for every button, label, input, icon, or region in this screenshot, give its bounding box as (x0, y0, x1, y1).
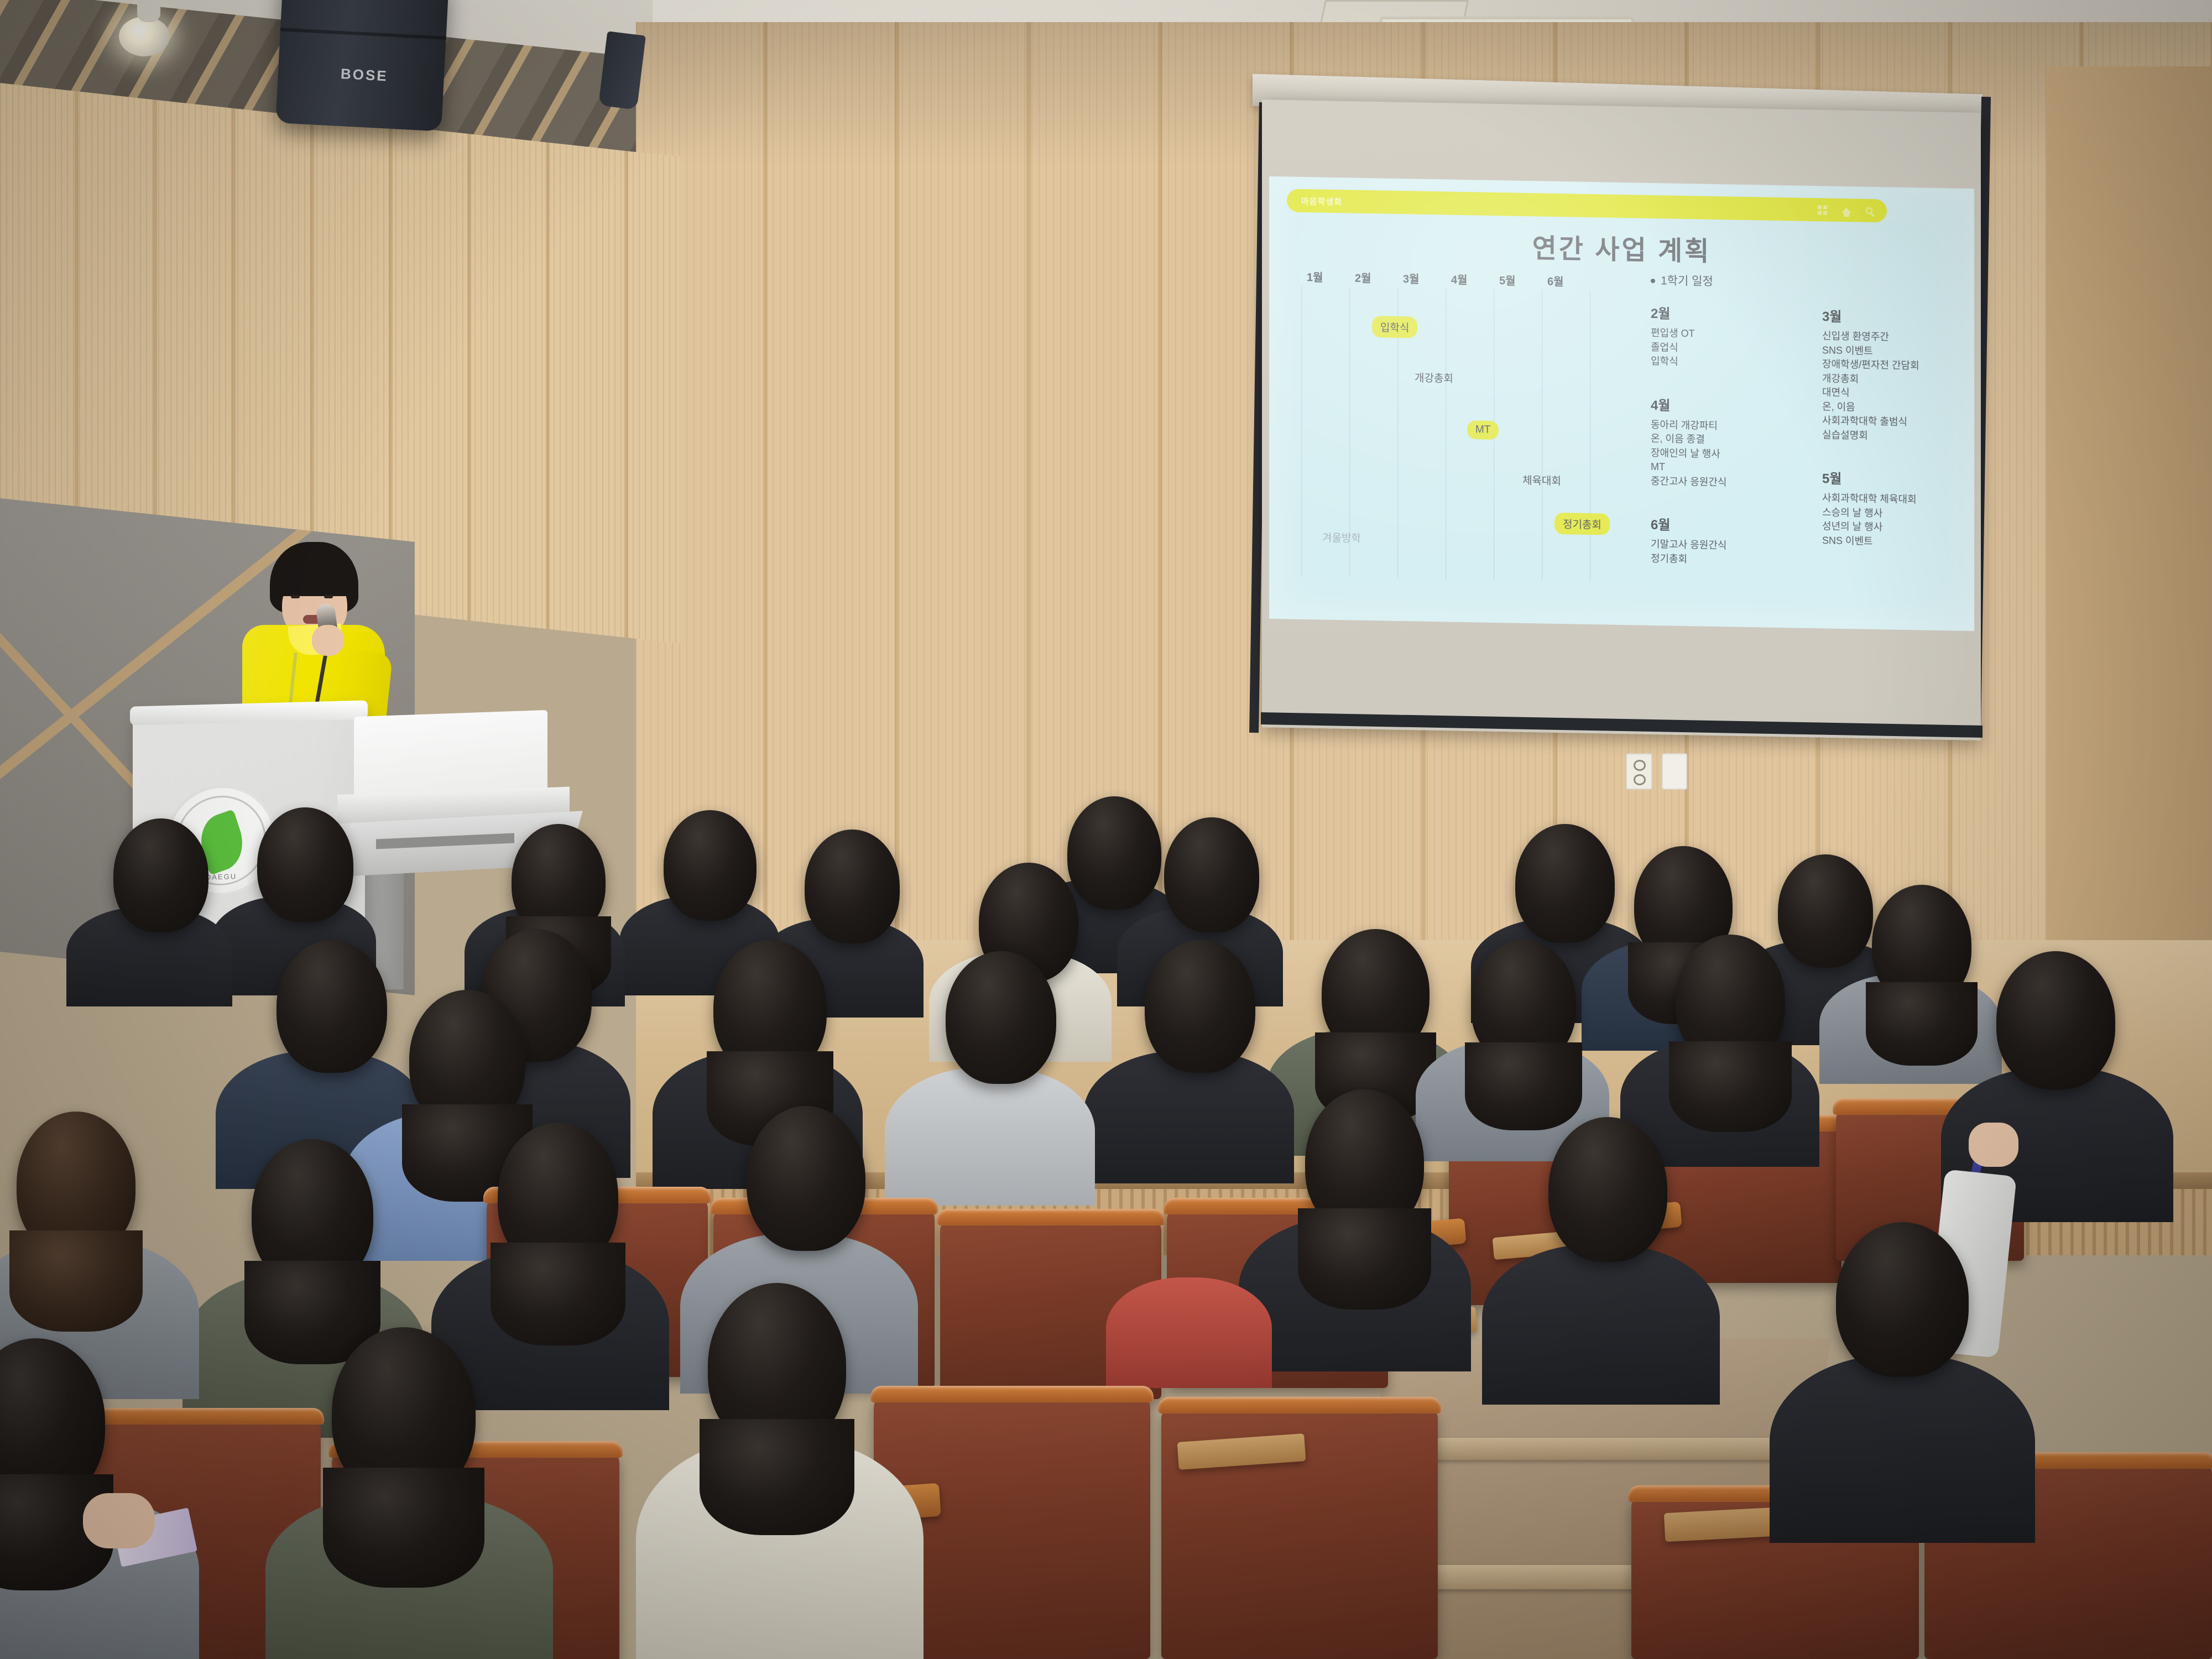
audience-head (276, 940, 387, 1073)
slide-header-label: 마음학생회 (1301, 195, 1342, 207)
schedule-heading-text: 1학기 일정 (1661, 274, 1713, 288)
schedule-month-heading: 3월 (1822, 305, 1955, 327)
audience-head (1067, 796, 1161, 910)
audience-head (1676, 935, 1785, 1065)
audience-shoulders (1482, 1244, 1720, 1405)
slide-title: 연간 사업 계획 (1269, 222, 1974, 273)
schedule-item: 편입생 OT (1651, 326, 1783, 343)
home-icon (1841, 207, 1851, 213)
timeline-month-3: 3월 (1403, 270, 1420, 286)
audience-head (1872, 885, 1971, 1004)
audience-head (17, 1112, 135, 1256)
blank-wall-plate (1662, 753, 1687, 790)
schedule-month-heading: 4월 (1651, 394, 1783, 416)
power-outlet (1626, 753, 1652, 790)
schedule-columns: 2월편입생 OT졸업식입학식4월동아리 개강파티온, 이음 종결장애인의 날 행… (1651, 302, 1960, 571)
schedule-month-heading: 5월 (1822, 468, 1955, 489)
timeline-event: 정기총회 (1554, 513, 1610, 535)
timeline-month-2: 2월 (1355, 269, 1371, 286)
bose-logo: BOSE (340, 65, 388, 85)
ceiling-spotlight (137, 0, 160, 22)
audience-shoulders (885, 1067, 1095, 1206)
audience-head (1305, 1089, 1424, 1234)
audience-head (512, 824, 606, 937)
audience-head (708, 1283, 846, 1449)
schedule-item: 사회과학대학 출범식 (1822, 414, 1955, 431)
audience-head (1471, 940, 1576, 1065)
timeline-month-6: 6월 (1547, 273, 1564, 289)
presenter-eye-right (324, 595, 333, 598)
audience-head (1836, 1222, 1969, 1377)
right-wall-panel (2046, 66, 2212, 1006)
audience-head (1515, 824, 1615, 943)
timeline-event: MT (1467, 420, 1499, 440)
timeline-month-1: 1월 (1307, 268, 1323, 285)
audience-head (332, 1327, 476, 1499)
presenter-hand (312, 625, 344, 656)
schedule-item: 실습설명회 (1822, 428, 1955, 445)
audience-head (1548, 1117, 1667, 1262)
student-hand (1969, 1123, 2018, 1167)
schedule-column-left: 2월편입생 OT졸업식입학식4월동아리 개강파티온, 이음 종결장애인의 날 행… (1651, 302, 1783, 568)
slide-header-bar: 마음학생회 (1287, 189, 1887, 222)
presenter-fringe (274, 564, 356, 596)
audience-shoulders (1106, 1277, 1272, 1388)
schedule-item: 정기총회 (1651, 552, 1783, 568)
schedule-item: SNS 이벤트 (1822, 534, 1955, 550)
timeline-event: 입학식 (1372, 316, 1417, 338)
audience-head (409, 990, 525, 1129)
audience-head (498, 1123, 618, 1269)
schedule-item: 대면식 (1822, 386, 1955, 403)
aisle-step (1392, 1438, 1793, 1460)
schedule-item: 신입생 환영주간 (1822, 329, 1955, 346)
student-hand (83, 1493, 155, 1548)
audience-head (747, 1106, 865, 1251)
audience-head (664, 810, 757, 921)
bose-ceiling-speaker: BOSE (275, 0, 449, 132)
timeline-event: 겨울방학 (1322, 530, 1361, 545)
audience-head (1778, 854, 1873, 968)
projected-slide: 마음학생회 연간 사업 계획 1월2월3월4월5월6월 겨울방학입학식개강총회M… (1269, 176, 1974, 631)
audience-head (257, 807, 353, 922)
bullet-dot-icon (1651, 279, 1655, 283)
timeline-month-5: 5월 (1499, 272, 1516, 288)
timeline-month-4: 4월 (1451, 271, 1468, 288)
audience-head (805, 830, 900, 943)
audience-head (252, 1139, 373, 1287)
schedule-item: 장애인의 날 행사 (1651, 446, 1783, 463)
audience-head (1164, 817, 1259, 932)
schedule-month-heading: 2월 (1651, 302, 1783, 324)
audience-head (113, 818, 208, 932)
presenter-eye-left (291, 595, 300, 598)
slide-timeline: 1월2월3월4월5월6월 겨울방학입학식개강총회MT체육대회정기총회 (1301, 268, 1633, 583)
schedule-item: 중간고사 응원간식 (1651, 474, 1783, 491)
ceiling-downlight (119, 17, 170, 56)
timeline-event: 개강총회 (1415, 369, 1453, 385)
slide-header-icons (1818, 205, 1872, 216)
timeline-event: 체육대회 (1522, 472, 1561, 488)
speaker-seam (280, 28, 446, 40)
audience-head (1322, 929, 1430, 1055)
audience-head (946, 951, 1056, 1084)
audience-head (713, 940, 827, 1076)
search-icon (1866, 207, 1872, 214)
slide-schedule-block: 1학기 일정 2월편입생 OT졸업식입학식4월동아리 개강파티온, 이음 종결장… (1651, 272, 1960, 571)
schedule-item: 입학식 (1651, 354, 1783, 371)
schedule-item: 장애학생/편자전 간담회 (1822, 357, 1955, 374)
audience-head (1145, 940, 1255, 1073)
grid-icon (1818, 205, 1827, 215)
audience-shoulders (1770, 1355, 2035, 1543)
schedule-heading: 1학기 일정 (1651, 272, 1960, 294)
audience-head (1996, 951, 2115, 1089)
schedule-column-right: 3월신입생 환영주간SNS 이벤트장애학생/편자전 간담회개강총회대면식온, 이… (1822, 305, 1955, 571)
schedule-month-heading: 6월 (1651, 514, 1783, 535)
auditorium-photo: BOSE 마음학생회 연간 사업 계획 1월2월3월4월5월6월 겨울방학입학식… (0, 0, 2212, 1659)
schedule-item: 온, 이음 종결 (1651, 432, 1783, 448)
